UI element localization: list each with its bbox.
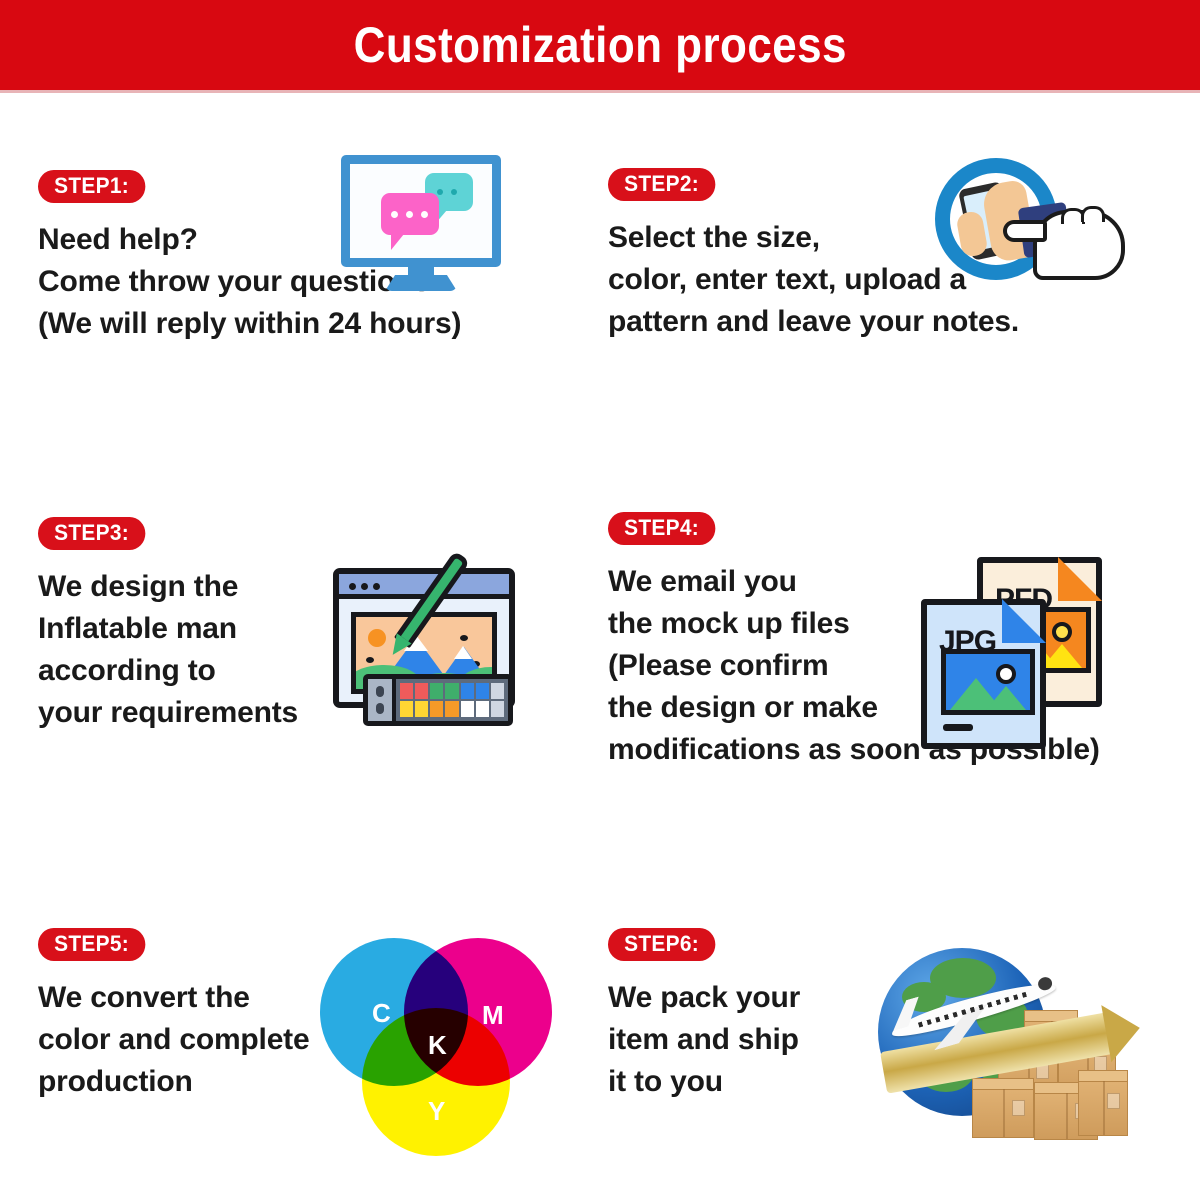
color-palette bbox=[363, 674, 513, 726]
step-badge-3: STEP3: bbox=[38, 517, 145, 550]
step-5-line-3: production bbox=[38, 1061, 309, 1103]
jpg-folded-corner bbox=[1002, 599, 1046, 643]
step-text-6: We pack your item and ship it to you bbox=[608, 977, 800, 1103]
step-5-line-2: color and complete bbox=[38, 1019, 309, 1061]
step-block-6: STEP6: We pack your item and ship it to … bbox=[608, 928, 800, 1103]
step-badge-1: STEP1: bbox=[38, 170, 145, 203]
step-badge-2: STEP2: bbox=[608, 168, 715, 201]
chat-bubble-pink-icon bbox=[381, 193, 439, 235]
step-block-5: STEP5: We convert the color and complete… bbox=[38, 928, 309, 1103]
step-text-5: We convert the color and complete produc… bbox=[38, 977, 309, 1103]
monitor-chat-icon bbox=[341, 155, 511, 290]
header-banner: Customization process bbox=[0, 0, 1200, 90]
box-bottom-right bbox=[1078, 1080, 1128, 1136]
step-1-line-3: (We will reply within 24 hours) bbox=[38, 303, 461, 345]
design-window-pencil-icon bbox=[333, 556, 533, 741]
page-title: Customization process bbox=[353, 20, 846, 70]
step-6-line-3: it to you bbox=[608, 1061, 800, 1103]
globe-plane-boxes-icon bbox=[878, 940, 1128, 1145]
step-3-line-1: We design the bbox=[38, 566, 298, 608]
step-2-line-3: pattern and leave your notes. bbox=[608, 301, 1019, 343]
step-badge-4: STEP4: bbox=[608, 512, 715, 545]
step-5-line-1: We convert the bbox=[38, 977, 309, 1019]
step-3-line-2: Inflatable man bbox=[38, 608, 298, 650]
venn-letter-c: C bbox=[372, 998, 391, 1029]
venn-letter-y: Y bbox=[428, 1096, 445, 1127]
monitor-base bbox=[385, 275, 457, 291]
step-badge-6: STEP6: bbox=[608, 928, 715, 961]
step-badge-5: STEP5: bbox=[38, 928, 145, 961]
file-documents-icon: PFD JPG bbox=[915, 557, 1115, 752]
venn-letter-k: K bbox=[428, 1030, 447, 1061]
venn-letter-m: M bbox=[482, 1000, 504, 1031]
step-6-line-1: We pack your bbox=[608, 977, 800, 1019]
header-divider bbox=[0, 90, 1200, 93]
pointing-finger bbox=[1003, 220, 1047, 242]
step-6-line-2: item and ship bbox=[608, 1019, 800, 1061]
hand-phone-touch-icon bbox=[925, 158, 1130, 288]
box-bottom-left bbox=[972, 1088, 1034, 1138]
step-text-3: We design the Inflatable man according t… bbox=[38, 566, 298, 734]
step-3-line-3: according to bbox=[38, 650, 298, 692]
jpg-caption-line bbox=[943, 724, 973, 731]
step-block-3: STEP3: We design the Inflatable man acco… bbox=[38, 517, 298, 734]
jpg-thumbnail bbox=[941, 649, 1035, 715]
step-3-line-4: your requirements bbox=[38, 692, 298, 734]
jpg-document: JPG bbox=[921, 599, 1046, 749]
pfd-folded-corner bbox=[1058, 557, 1102, 601]
cmyk-venn-icon: C M Y K bbox=[320, 938, 555, 1158]
